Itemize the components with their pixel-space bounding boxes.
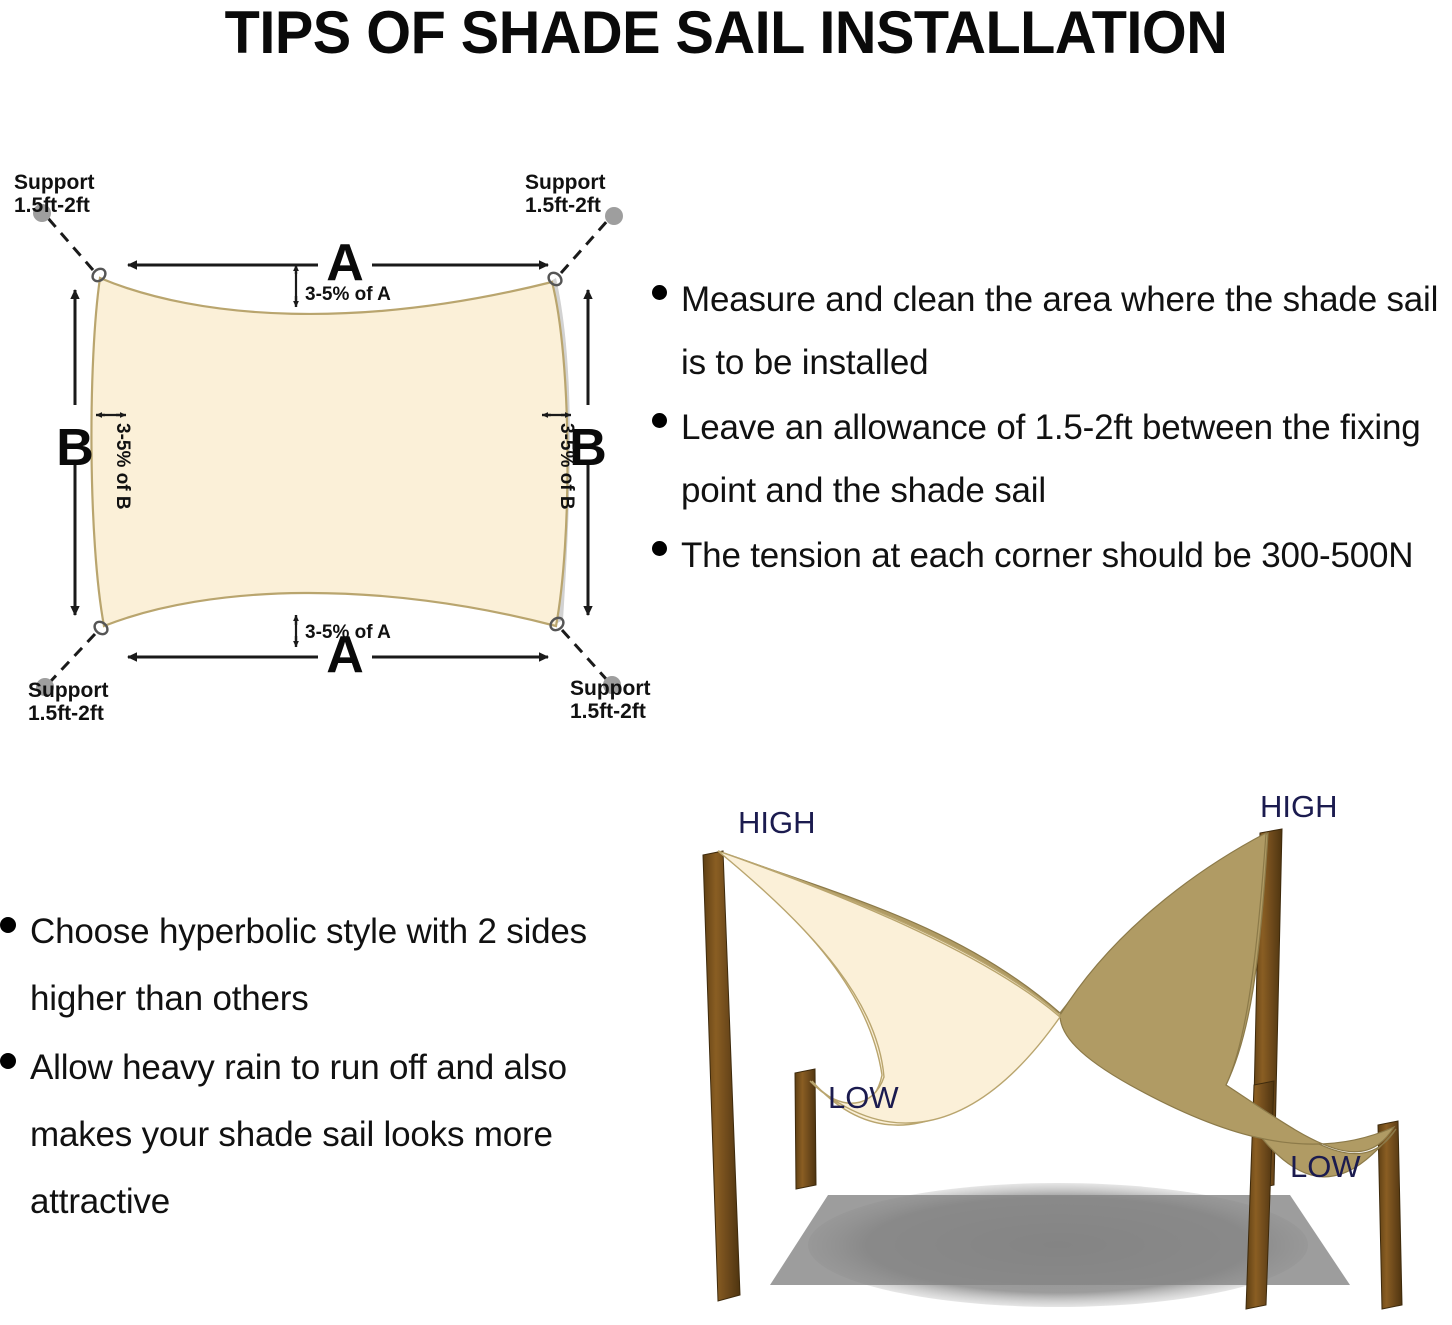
bullet-dot-icon	[0, 917, 16, 933]
post-low-right	[1378, 1121, 1402, 1309]
label-high-right: HIGH	[1260, 789, 1338, 824]
label-high-left: HIGH	[738, 805, 816, 840]
hyperbolic-sail-illustration: HIGH HIGH LOW LOW	[660, 785, 1452, 1325]
list-item-text: Leave an allowance of 1.5-2ft between th…	[681, 396, 1452, 522]
svg-text:1.5ft-2ft: 1.5ft-2ft	[570, 700, 646, 723]
tolerance-label-b-right: 3-5% of B	[556, 423, 577, 510]
list-item: Leave an allowance of 1.5-2ft between th…	[652, 396, 1452, 522]
support-label-top-right: Support 1.5ft-2ft	[525, 171, 605, 217]
page-title: TIPS OF SHADE SAIL INSTALLATION	[29, 0, 1423, 67]
list-item-text: Choose hyperbolic style with 2 sides hig…	[30, 898, 620, 1032]
sail-surface-tan-overlay	[718, 833, 1394, 1152]
list-item-text: Measure and clean the area where the sha…	[681, 268, 1452, 394]
svg-text:1.5ft-2ft: 1.5ft-2ft	[14, 194, 90, 217]
svg-text:Support: Support	[28, 679, 108, 702]
label-low-left: LOW	[828, 1080, 899, 1115]
installation-tips-list: Measure and clean the area where the sha…	[652, 268, 1452, 589]
bullet-dot-icon	[652, 541, 667, 556]
poster-root: TIPS OF SHADE SAIL INSTALLATION	[0, 0, 1452, 1325]
svg-text:Support: Support	[570, 677, 650, 700]
list-item: Measure and clean the area where the sha…	[652, 268, 1452, 394]
tolerance-label-b-left: 3-5% of B	[112, 423, 133, 510]
svg-text:1.5ft-2ft: 1.5ft-2ft	[525, 194, 601, 217]
bullet-dot-icon	[652, 285, 667, 300]
list-item: The tension at each corner should be 300…	[652, 524, 1452, 587]
list-item-text: The tension at each corner should be 300…	[681, 524, 1413, 587]
shade-sail-shape	[91, 278, 567, 626]
tolerance-label-a-bottom: 3-5% of A	[305, 622, 391, 643]
shade-sail-dimension-diagram: Support 1.5ft-2ft Support 1.5ft-2ft Supp…	[0, 160, 660, 740]
list-item: Allow heavy rain to run off and also mak…	[0, 1034, 620, 1235]
svg-text:Support: Support	[14, 171, 94, 194]
list-item-text: Allow heavy rain to run off and also mak…	[30, 1034, 620, 1235]
support-label-bottom-right: Support 1.5ft-2ft	[570, 677, 650, 723]
bullet-dot-icon	[0, 1053, 16, 1069]
list-item: Choose hyperbolic style with 2 sides hig…	[0, 898, 620, 1032]
post-low-left	[795, 1069, 816, 1189]
dimension-label-b-left: B	[56, 419, 94, 477]
svg-text:1.5ft-2ft: 1.5ft-2ft	[28, 702, 104, 725]
bullet-dot-icon	[652, 413, 667, 428]
label-low-right: LOW	[1290, 1149, 1361, 1184]
post-high-left	[703, 851, 740, 1301]
support-label-bottom-left: Support 1.5ft-2ft	[28, 679, 108, 725]
svg-text:Support: Support	[525, 171, 605, 194]
sail-surface-tan	[718, 833, 1396, 1177]
tolerance-label-a-top: 3-5% of A	[305, 284, 391, 305]
support-label-top-left: Support 1.5ft-2ft	[14, 171, 94, 217]
hyperbolic-style-tips-list: Choose hyperbolic style with 2 sides hig…	[0, 898, 620, 1237]
